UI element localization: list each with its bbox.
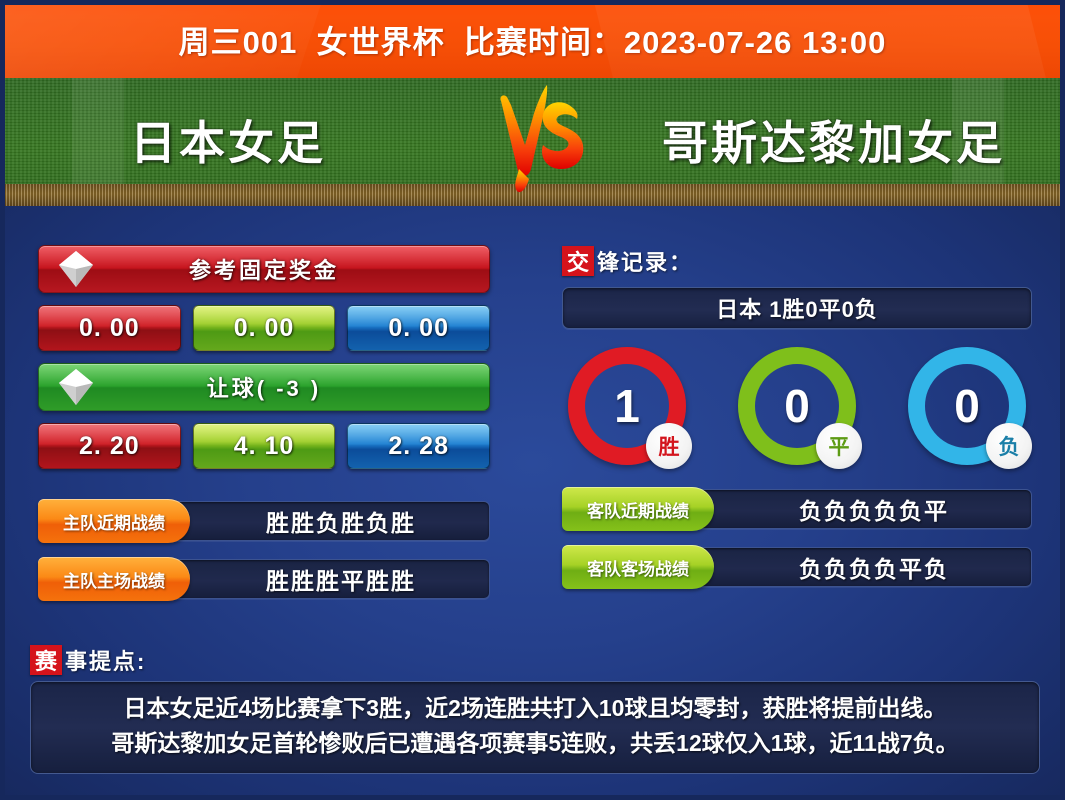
handicap-away-odd[interactable]: 2. 28	[347, 423, 490, 469]
header-title: 周三001 女世界杯 比赛时间：2023-07-26 13:00	[0, 0, 1065, 78]
h2h-summary: 日本 1胜0平0负	[562, 287, 1032, 329]
h2h-badge-icon: 交	[562, 246, 594, 276]
handicap-home-odd[interactable]: 2. 20	[38, 423, 181, 469]
handicap-odds-row: 2. 20 4. 10 2. 28	[38, 423, 490, 469]
header-bar: 周三001 女世界杯 比赛时间：2023-07-26 13:00	[0, 0, 1065, 78]
away-team-name: 哥斯达黎加女足	[662, 102, 1005, 178]
tips-badge-icon: 赛	[30, 645, 62, 675]
home-venue-form-value: 胜胜胜平胜胜	[170, 559, 490, 599]
handicap-header: 让球( -3 )	[38, 363, 490, 411]
home-team-name: 日本女足	[130, 102, 326, 178]
h2h-title-text: 锋记录：	[597, 245, 693, 277]
home-recent-form-row: 主队近期战绩 胜胜负胜负胜	[38, 499, 490, 543]
fixed-bonus-title: 参考固定奖金	[189, 253, 339, 285]
loss-label-badge: 负	[986, 423, 1032, 469]
away-recent-form-row: 客队近期战绩 负负负负负平	[562, 487, 1032, 531]
odds-panel: 参考固定奖金 0. 00 0. 00 0. 00 让球( -3 ) 2. 20 …	[38, 245, 490, 615]
fixed-bonus-odds-row: 0. 00 0. 00 0. 00	[38, 305, 490, 351]
away-venue-form-row: 客队客场战绩 负负负负平负	[562, 545, 1032, 589]
diamond-icon	[55, 249, 97, 289]
head-to-head-title: 交 锋记录：	[562, 245, 1032, 277]
away-recent-form-label: 客队近期战绩	[562, 487, 714, 531]
away-venue-form-value: 负负负负平负	[694, 547, 1032, 587]
home-recent-form-label: 主队近期战绩	[38, 499, 190, 543]
fixed-bonus-home-odd[interactable]: 0. 00	[38, 305, 181, 351]
tips-box: 日本女足近4场比赛拿下3胜，近2场连胜共打入10球且均零封，获胜将提前出线。 哥…	[30, 681, 1040, 774]
h2h-win-ring: 1 胜	[568, 347, 686, 465]
away-venue-form-label: 客队客场战绩	[562, 545, 714, 589]
tips-title-text: 事提点:	[65, 644, 146, 676]
away-recent-form-value: 负负负负负平	[694, 489, 1032, 529]
diamond-icon	[55, 367, 97, 407]
fixed-bonus-away-odd[interactable]: 0. 00	[347, 305, 490, 351]
match-tips-section: 赛 事提点: 日本女足近4场比赛拿下3胜，近2场连胜共打入10球且均零封，获胜将…	[30, 645, 1040, 774]
home-venue-form-row: 主队主场战绩 胜胜胜平胜胜	[38, 557, 490, 601]
fixed-bonus-draw-odd[interactable]: 0. 00	[193, 305, 336, 351]
draw-label-badge: 平	[816, 423, 862, 469]
fixed-bonus-header: 参考固定奖金	[38, 245, 490, 293]
win-label-badge: 胜	[646, 423, 692, 469]
h2h-loss-ring: 0 负	[908, 347, 1026, 465]
h2h-draw-ring: 0 平	[738, 347, 856, 465]
match-preview-card: 周三001 女世界杯 比赛时间：2023-07-26 13:00 日本女足 哥斯…	[0, 0, 1065, 800]
vs-flame-icon	[473, 83, 603, 195]
home-recent-form-value: 胜胜负胜负胜	[170, 501, 490, 541]
handicap-title: 让球( -3 )	[207, 371, 321, 403]
tips-line: 哥斯达黎加女足首轮惨败后已遭遇各项赛事5连败，共丢12球仅入1球，近11战7负。	[45, 726, 1025, 761]
head-to-head-panel: 交 锋记录： 日本 1胜0平0负 1 胜 0 平 0 负 客队近期战绩 负	[562, 245, 1032, 603]
handicap-draw-odd[interactable]: 4. 10	[193, 423, 336, 469]
tips-line: 日本女足近4场比赛拿下3胜，近2场连胜共打入10球且均零封，获胜将提前出线。	[45, 691, 1025, 726]
tips-title: 赛 事提点:	[30, 645, 1040, 675]
h2h-rings: 1 胜 0 平 0 负	[562, 347, 1032, 465]
home-venue-form-label: 主队主场战绩	[38, 557, 190, 601]
